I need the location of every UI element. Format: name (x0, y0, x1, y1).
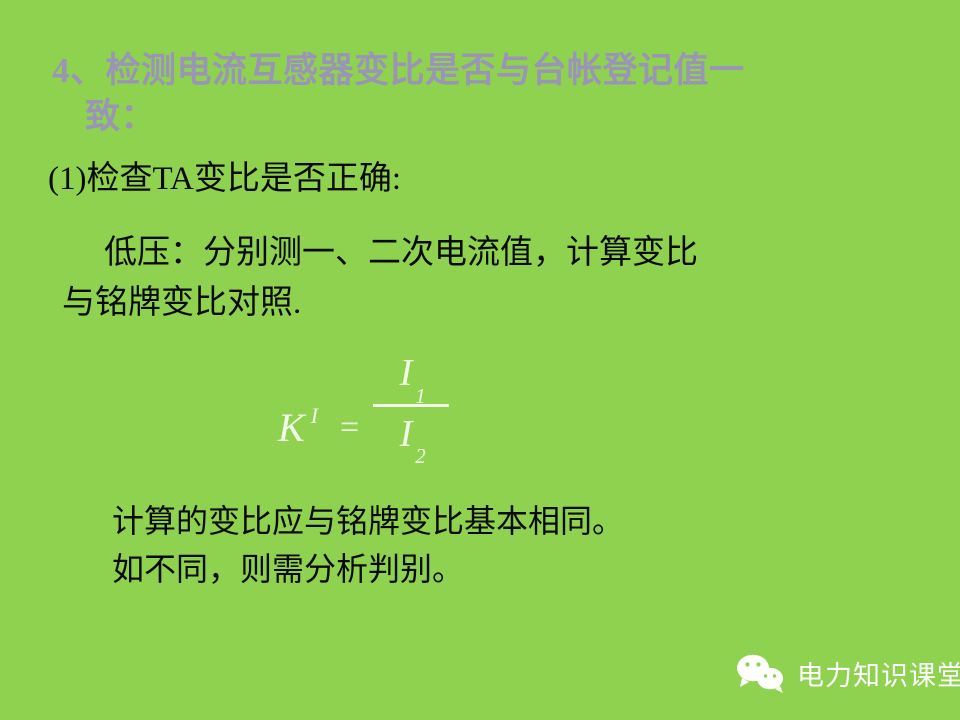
ratio-formula: K I = I1 I2 (278, 352, 449, 460)
lowvolt-line-1: 低压：分别测一、二次电流值，计算变比 (52, 228, 698, 278)
conclusion-paragraph: 计算的变比应与铭牌变比基本相同。 如不同，则需分析判别。 (112, 497, 624, 593)
formula-fraction: I1 I2 (373, 352, 449, 460)
lowvolt-line-2: 与铭牌变比对照. (52, 278, 698, 328)
formula-denominator: I2 (390, 407, 433, 461)
conclusion-line-1: 计算的变比应与铭牌变比基本相同。 (112, 497, 624, 545)
slide-canvas: 4、检测电流互感器变比是否与台帐登记值一 致： (1)检查TA变比是否正确: 低… (0, 0, 960, 720)
wechat-icon (735, 652, 787, 694)
formula-lhs-symbol: K (278, 408, 305, 448)
formula-equals-sign: = (340, 409, 359, 447)
slide-title: 4、检测电流互感器变比是否与台帐登记值一 致： (52, 48, 932, 140)
check-heading: (1)检查TA变比是否正确: (48, 158, 401, 200)
numerator-symbol: I (400, 352, 413, 394)
denominator-subscript: 2 (415, 444, 426, 468)
formula-numerator: I1 (390, 352, 433, 404)
watermark: 电力知识课堂 (735, 652, 960, 694)
denominator-symbol: I (400, 413, 413, 455)
title-line-1: 4、检测电流互感器变比是否与台帐登记值一 (52, 48, 932, 94)
formula-lhs-subscript: I (311, 403, 318, 429)
conclusion-line-2: 如不同，则需分析判别。 (112, 545, 624, 593)
watermark-text: 电力知识课堂 (797, 654, 960, 693)
lowvolt-paragraph: 低压：分别测一、二次电流值，计算变比 与铭牌变比对照. (52, 228, 698, 328)
title-line-2: 致： (52, 94, 932, 140)
numerator-subscript: 1 (415, 384, 426, 408)
